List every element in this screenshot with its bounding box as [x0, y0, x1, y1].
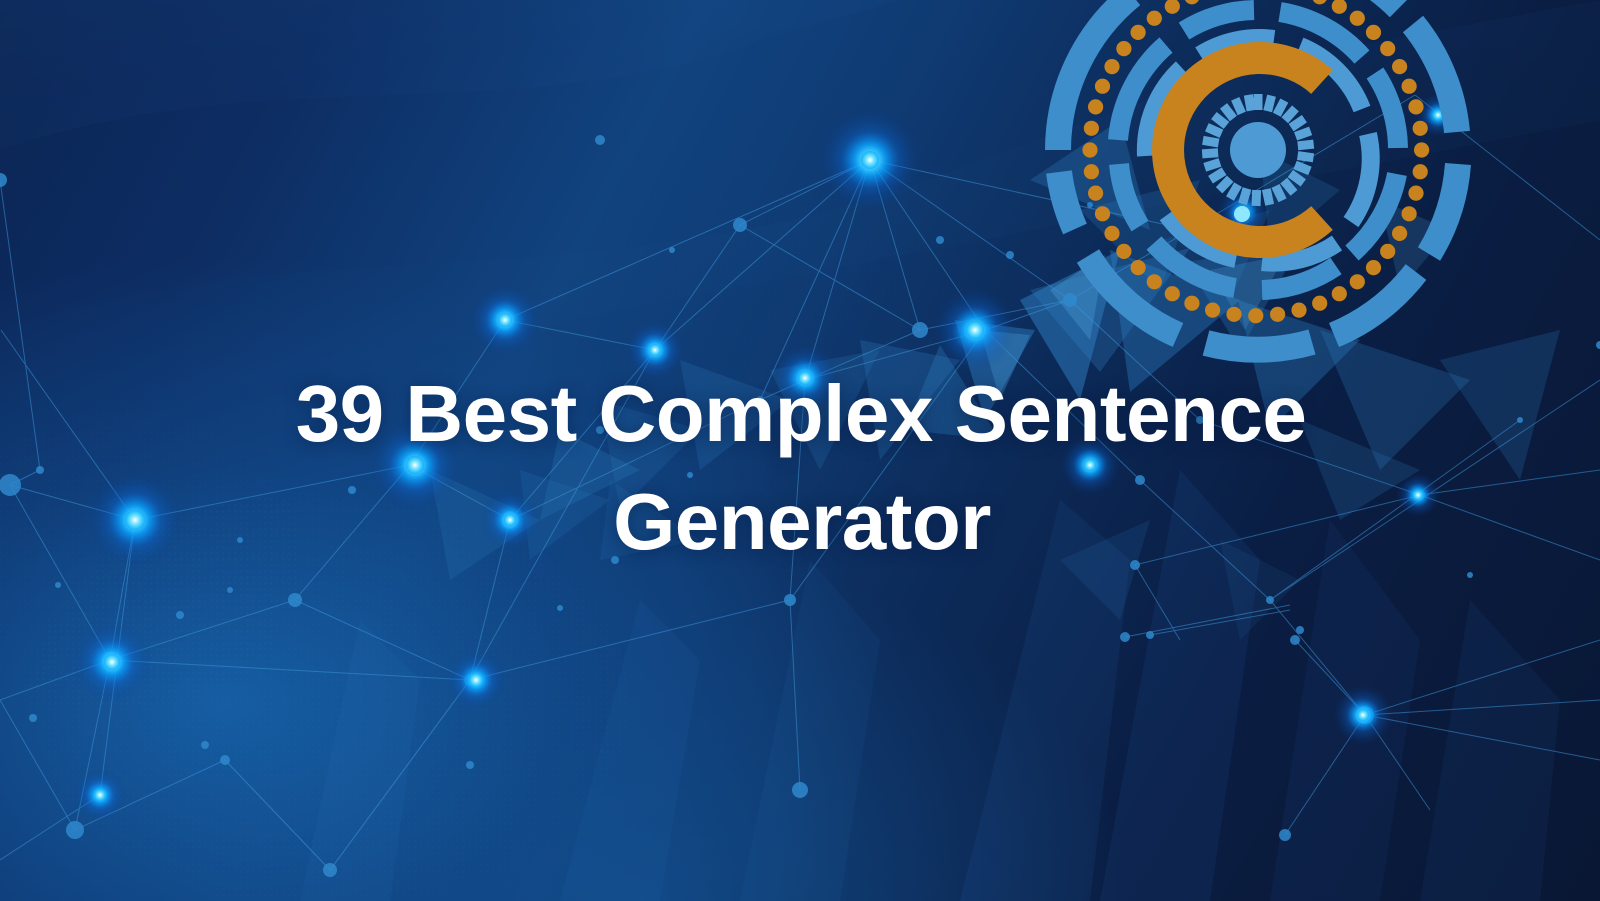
concentric-c-logo [0, 0, 1600, 901]
hero-banner: 39 Best Complex Sentence Generator [0, 0, 1600, 901]
logo-core-disc [1230, 122, 1286, 178]
